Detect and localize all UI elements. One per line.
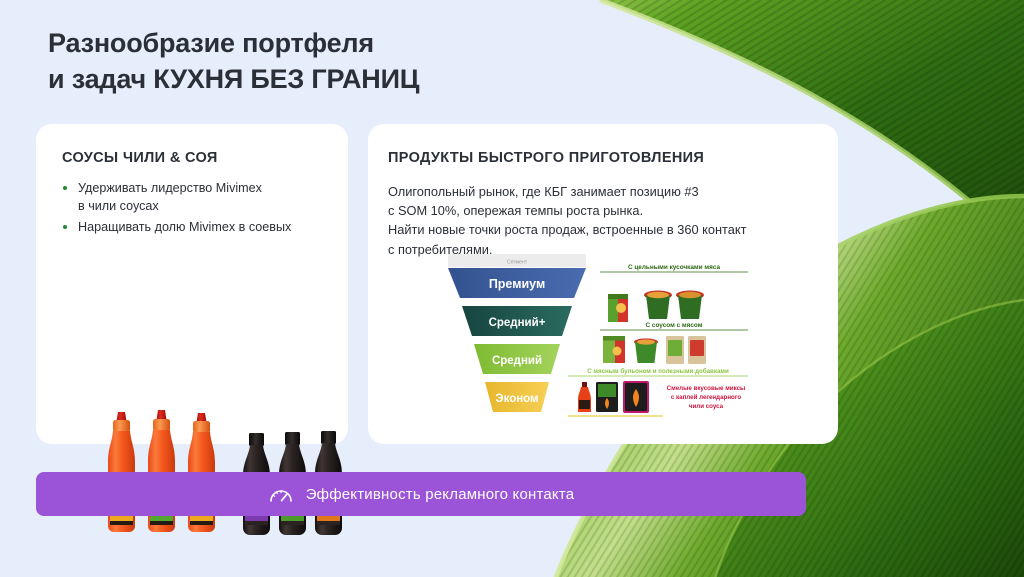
middle-products: С мясным бульоном и полезными добавками	[568, 368, 748, 376]
funnel-tier-premium: Премиум	[448, 268, 586, 298]
slide-root: Разнообразие портфеля и задач КУХНЯ БЕЗ …	[0, 0, 1024, 577]
list-item: Удерживать лидерство Mivimex в чили соус…	[62, 180, 332, 216]
left-card-title: СОУСЫ ЧИЛИ & СОЯ	[62, 150, 218, 166]
speedometer-icon	[268, 483, 294, 505]
segment-funnel-diagram: Сегмент Премиум Средний+ Средний	[448, 254, 828, 429]
funnel-annotation: С цельными кусочками мяса	[628, 264, 720, 271]
card-instant-products: ПРОДУКТЫ БЫСТРОГО ПРИГОТОВЛЕНИЯ Олигопол…	[368, 124, 838, 444]
list-item: Наращивать долю Mivimex в соевых	[62, 219, 332, 237]
funnel-annotation: Смелые вкусовые миксы	[667, 385, 746, 392]
funnel-tier-label: Эконом	[495, 393, 538, 405]
middle-plus-products: С соусом с мясом	[600, 322, 748, 364]
premium-products: С цельными кусочками мяса	[600, 264, 748, 322]
funnel-axis-label: Сегмент	[507, 260, 528, 266]
right-card-body-text: Олигопольный рынок, где КБГ занимает поз…	[388, 182, 818, 259]
effectiveness-banner[interactable]: Эффективность рекламного контакта	[36, 472, 806, 516]
economy-products: Смелые вкусовые миксы с каплей легендарн…	[568, 381, 745, 416]
svg-text:с каплей легендарного: с каплей легендарного	[671, 394, 741, 401]
funnel-annotation: С мясным бульоном и полезными добавками	[587, 368, 729, 375]
funnel-tier-label: Премиум	[489, 277, 545, 291]
page-title: Разнообразие портфеля и задач КУХНЯ БЕЗ …	[48, 26, 419, 97]
funnel-tier-middle: Средний	[474, 344, 560, 374]
right-card-title: ПРОДУКТЫ БЫСТРОГО ПРИГОТОВЛЕНИЯ	[388, 150, 704, 166]
banner-label: Эффективность рекламного контакта	[306, 486, 575, 503]
funnel-annotation: С соусом с мясом	[646, 322, 703, 329]
funnel-tier-economy: Эконом	[485, 382, 549, 412]
funnel-tier-middle-plus: Средний+	[462, 306, 572, 336]
left-card-bullet-list: Удерживать лидерство Mivimex в чили соус…	[62, 180, 332, 240]
funnel-tier-label: Средний+	[489, 317, 546, 329]
svg-text:чили соуса: чили соуса	[689, 403, 724, 410]
card-chili-and-soy-sauces: СОУСЫ ЧИЛИ & СОЯ Удерживать лидерство Mi…	[36, 124, 348, 444]
funnel-tier-label: Средний	[492, 355, 542, 367]
